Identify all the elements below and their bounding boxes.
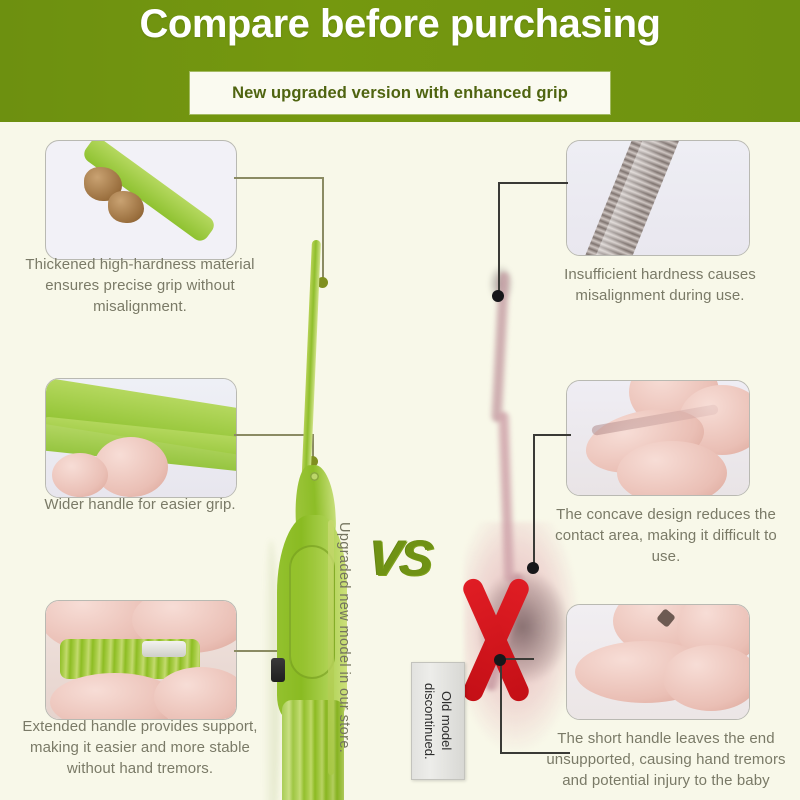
upgraded-side-rail — [328, 520, 334, 775]
connector-dot-insufficient-hardness — [492, 290, 504, 302]
connector-insufficient-hardness — [498, 182, 570, 294]
thumbnail-thickened-material — [45, 140, 237, 260]
vs-mark: VS — [358, 528, 442, 590]
upgraded-vertical-label: Upgraded new model in our store. — [336, 522, 352, 753]
caption-short-handle: The short handle leaves the end unsuppor… — [540, 728, 792, 791]
caption-wider-handle: Wider handle for easier grip. — [22, 494, 258, 515]
thumbnail-insufficient-hardness — [566, 140, 750, 256]
page-title: Compare before purchasing — [0, 2, 800, 47]
caption-insufficient-hardness: Insufficient hardness causes misalignmen… — [548, 264, 772, 306]
thumbnail-extended-handle — [45, 600, 237, 720]
connector-short-handle — [500, 658, 572, 754]
connector-dot-concave-design — [527, 562, 539, 574]
comparison-body: Thickened high-hardness material ensures… — [0, 122, 800, 800]
subtitle-box: New upgraded version with enhanced grip — [190, 72, 610, 114]
connector-concave-design — [533, 434, 573, 566]
thumbnail-concave-design — [566, 380, 750, 496]
upgraded-product-illustration — [255, 240, 385, 800]
old-model-label-box: Old model discontinued. — [411, 662, 465, 780]
subtitle-text: New upgraded version with enhanced grip — [232, 84, 568, 103]
old-model-label-text: Old model discontinued. — [412, 663, 464, 779]
header-banner: Compare before purchasing New upgraded v… — [0, 0, 800, 122]
infographic-canvas: Compare before purchasing New upgraded v… — [0, 0, 800, 800]
caption-thickened-material: Thickened high-hardness material ensures… — [22, 254, 258, 317]
caption-extended-handle: Extended handle provides support, making… — [22, 716, 258, 779]
connector-dot-short-handle — [494, 654, 506, 666]
thumbnail-wider-handle — [45, 378, 237, 498]
caption-concave-design: The concave design reduces the contact a… — [544, 504, 788, 567]
thumbnail-short-handle — [566, 604, 750, 720]
